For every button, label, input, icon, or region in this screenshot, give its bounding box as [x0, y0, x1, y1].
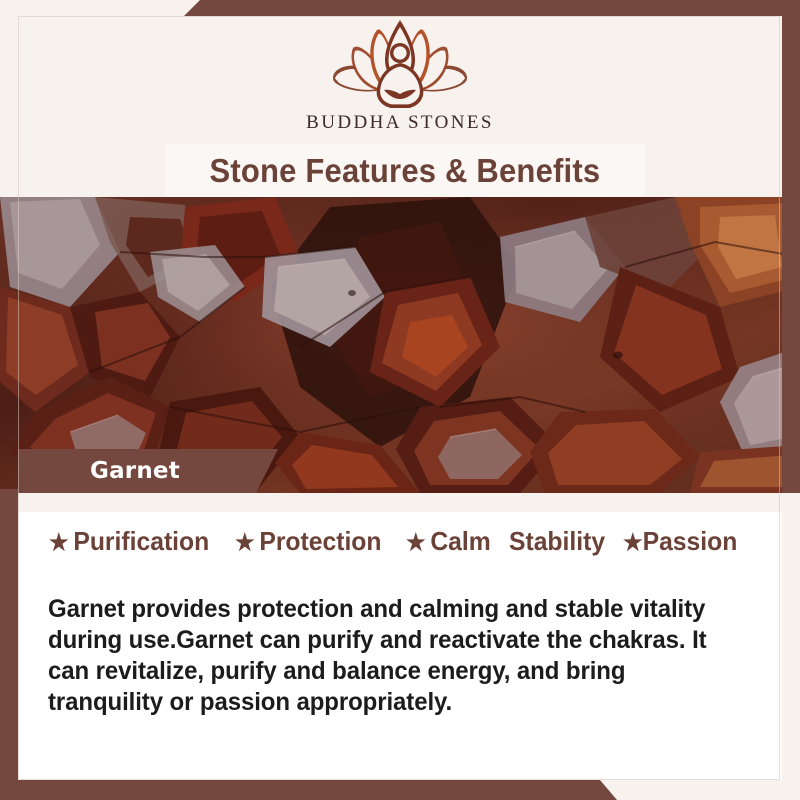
stone-name: Garnet — [18, 458, 180, 484]
benefit-label: Calm — [430, 526, 490, 557]
brand-logo: BUDDHA STONES — [0, 18, 800, 134]
content-card: ★ Purification ★ Protection ★ Calm Stabi… — [18, 493, 782, 780]
star-icon: ★ — [49, 531, 69, 554]
benefit-label: Passion — [643, 526, 738, 557]
benefit-label: Protection — [259, 526, 381, 557]
garnet-crystals-photo — [0, 197, 800, 493]
benefit-label: Purification — [73, 526, 209, 557]
benefits-list: ★ Purification ★ Protection ★ Calm Stabi… — [49, 526, 755, 557]
star-icon: ★ — [406, 531, 426, 554]
benefit-stability: Stability — [509, 526, 605, 557]
frame-right-bar — [782, 0, 800, 493]
frame-left-bar — [0, 489, 18, 800]
stone-name-ribbon: Garnet — [18, 449, 278, 493]
benefit-calm: ★ Calm — [406, 526, 491, 557]
brand-name: BUDDHA STONES — [0, 112, 800, 134]
stone-description: Garnet provides protection and calming a… — [48, 594, 735, 718]
title-band: Stone Features & Benefits — [165, 144, 645, 197]
benefit-protection: ★ Protection — [235, 526, 381, 557]
benefit-purification: ★ Purification — [49, 526, 209, 557]
lotus-meditation-icon — [315, 18, 485, 110]
benefit-label: Stability — [509, 526, 605, 557]
star-icon: ★ — [623, 531, 643, 554]
page-title: Stone Features & Benefits — [210, 152, 601, 190]
benefit-passion: ★ Passion — [623, 526, 737, 557]
frame-bottom-bar — [0, 780, 800, 800]
product-info-poster: BUDDHA STONES Stone Features & Benefits — [0, 0, 800, 800]
card-top-tint — [18, 493, 782, 512]
star-icon: ★ — [235, 531, 255, 554]
